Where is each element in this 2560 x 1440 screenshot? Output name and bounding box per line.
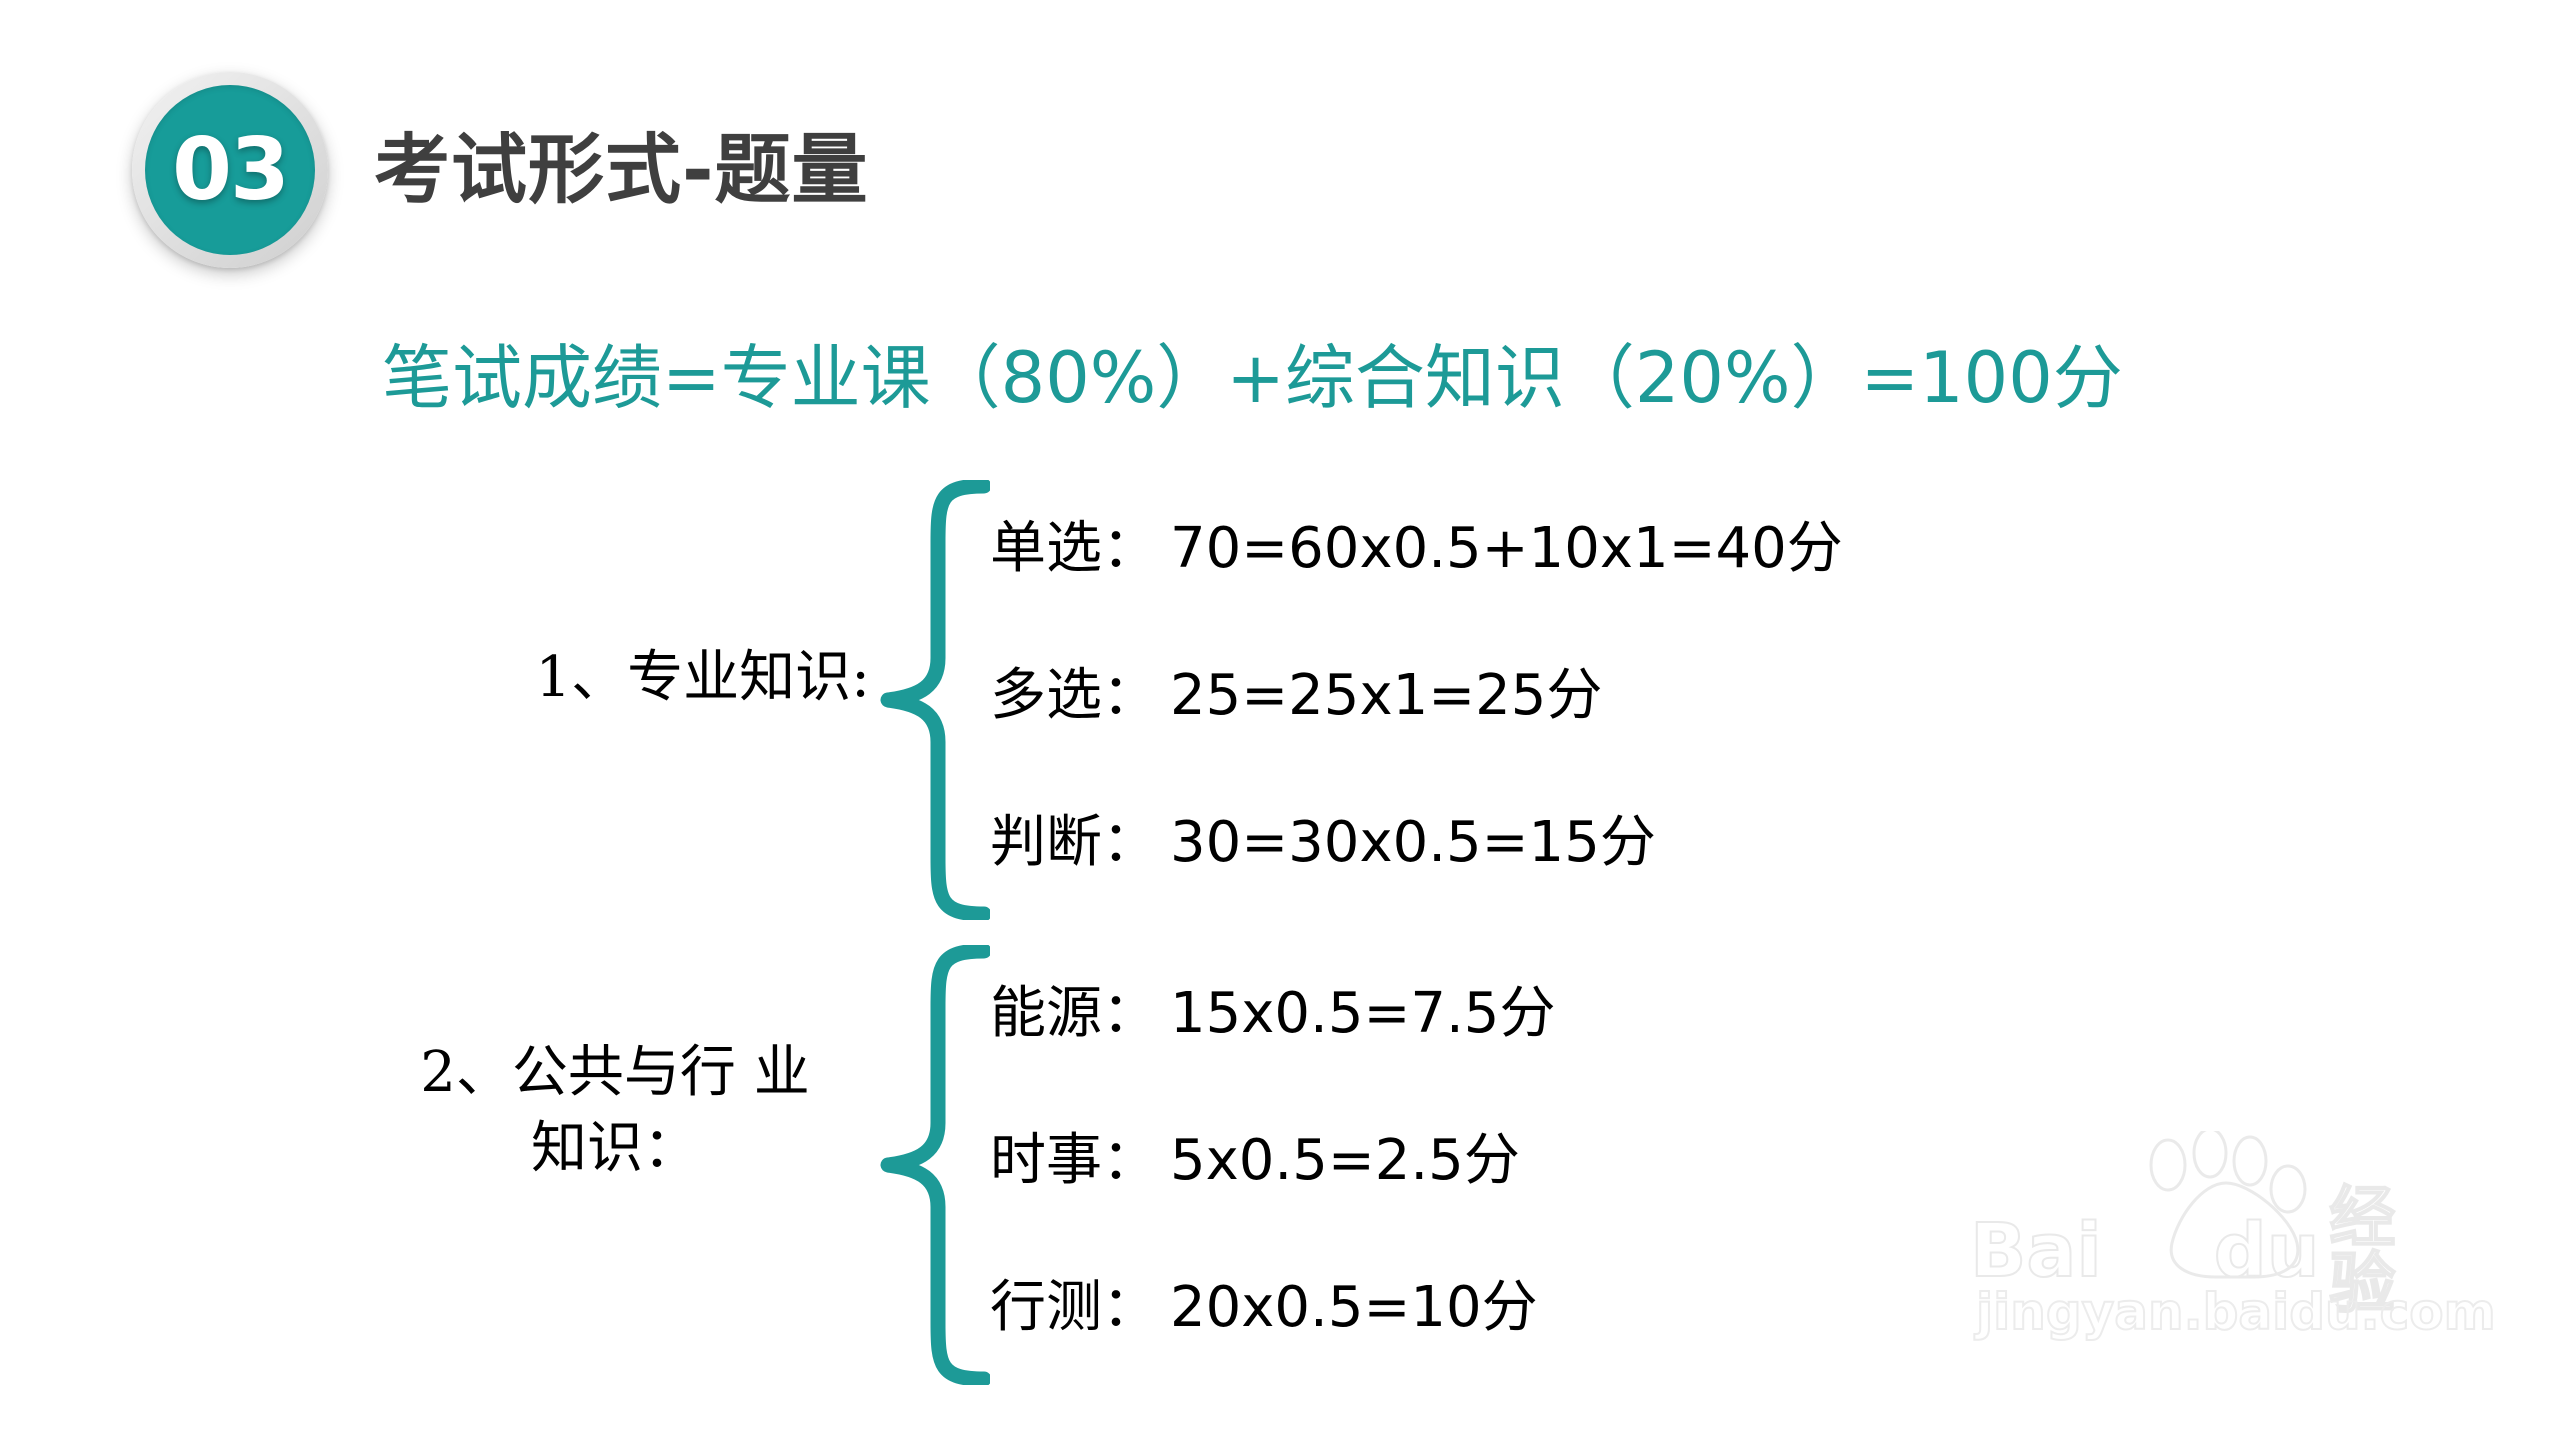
curly-brace-icon	[880, 945, 990, 1385]
item-unit: 分	[1787, 516, 1843, 581]
slide-header: 03 考试形式-题量	[0, 0, 2560, 260]
item-value: 30=30x0.5=15分	[1170, 797, 1656, 878]
page-title: 考试形式-题量	[374, 108, 869, 218]
group-items: 单选： 70=60x0.5+10x1=40分 多选： 25=25x1=25分 判…	[990, 470, 2390, 911]
item-label: 判断：	[990, 797, 1158, 878]
group-label: 1、专业知识:	[400, 640, 870, 716]
item-unit: 分	[1464, 1128, 1520, 1193]
curly-brace-icon	[880, 480, 990, 920]
list-item: 时事： 5x0.5=2.5分	[990, 1082, 2390, 1229]
item-unit: 分	[1499, 981, 1555, 1046]
item-value: 70=60x0.5+10x1=40分	[1170, 503, 1843, 584]
group-items: 能源： 15x0.5=7.5分 时事： 5x0.5=2.5分 行测： 20x0.…	[990, 935, 2390, 1376]
group-professional-knowledge: 1、专业知识: 单选： 70=60x0.5+10x1=40分 多选： 25=25…	[0, 470, 2560, 935]
score-formula-subtitle: 笔试成绩=专业课（80%）+综合知识（20%）=100分	[382, 322, 2123, 423]
list-item: 单选： 70=60x0.5+10x1=40分	[990, 470, 2390, 617]
list-item: 能源： 15x0.5=7.5分	[990, 935, 2390, 1082]
item-label: 时事：	[990, 1115, 1158, 1196]
breakdown-groups: 1、专业知识: 单选： 70=60x0.5+10x1=40分 多选： 25=25…	[0, 470, 2560, 1400]
group-public-industry-knowledge: 2、公共与行 业 知识： 能源： 15x0.5=7.5分 时事： 5x0.5=2…	[0, 935, 2560, 1400]
item-unit: 分	[1546, 663, 1602, 728]
list-item: 判断： 30=30x0.5=15分	[990, 764, 2390, 911]
item-value: 20x0.5=10分	[1170, 1262, 1538, 1343]
group-label: 2、公共与行 业 知识：	[380, 1035, 850, 1186]
item-label: 能源：	[990, 968, 1158, 1049]
item-label: 行测：	[990, 1262, 1158, 1343]
item-value: 25=25x1=25分	[1170, 650, 1602, 731]
item-unit: 分	[1482, 1275, 1538, 1340]
item-label: 单选：	[990, 503, 1158, 584]
list-item: 行测： 20x0.5=10分	[990, 1229, 2390, 1376]
section-number-badge: 03	[132, 72, 328, 268]
item-label: 多选：	[990, 650, 1158, 731]
item-value: 5x0.5=2.5分	[1170, 1115, 1520, 1196]
badge-number-label: 03	[172, 127, 288, 213]
list-item: 多选： 25=25x1=25分	[990, 617, 2390, 764]
badge-circle: 03	[145, 85, 315, 255]
slide-root: 03 考试形式-题量 笔试成绩=专业课（80%）+综合知识（20%）=100分 …	[0, 0, 2560, 1440]
item-value: 15x0.5=7.5分	[1170, 968, 1555, 1049]
item-unit: 分	[1600, 810, 1656, 875]
